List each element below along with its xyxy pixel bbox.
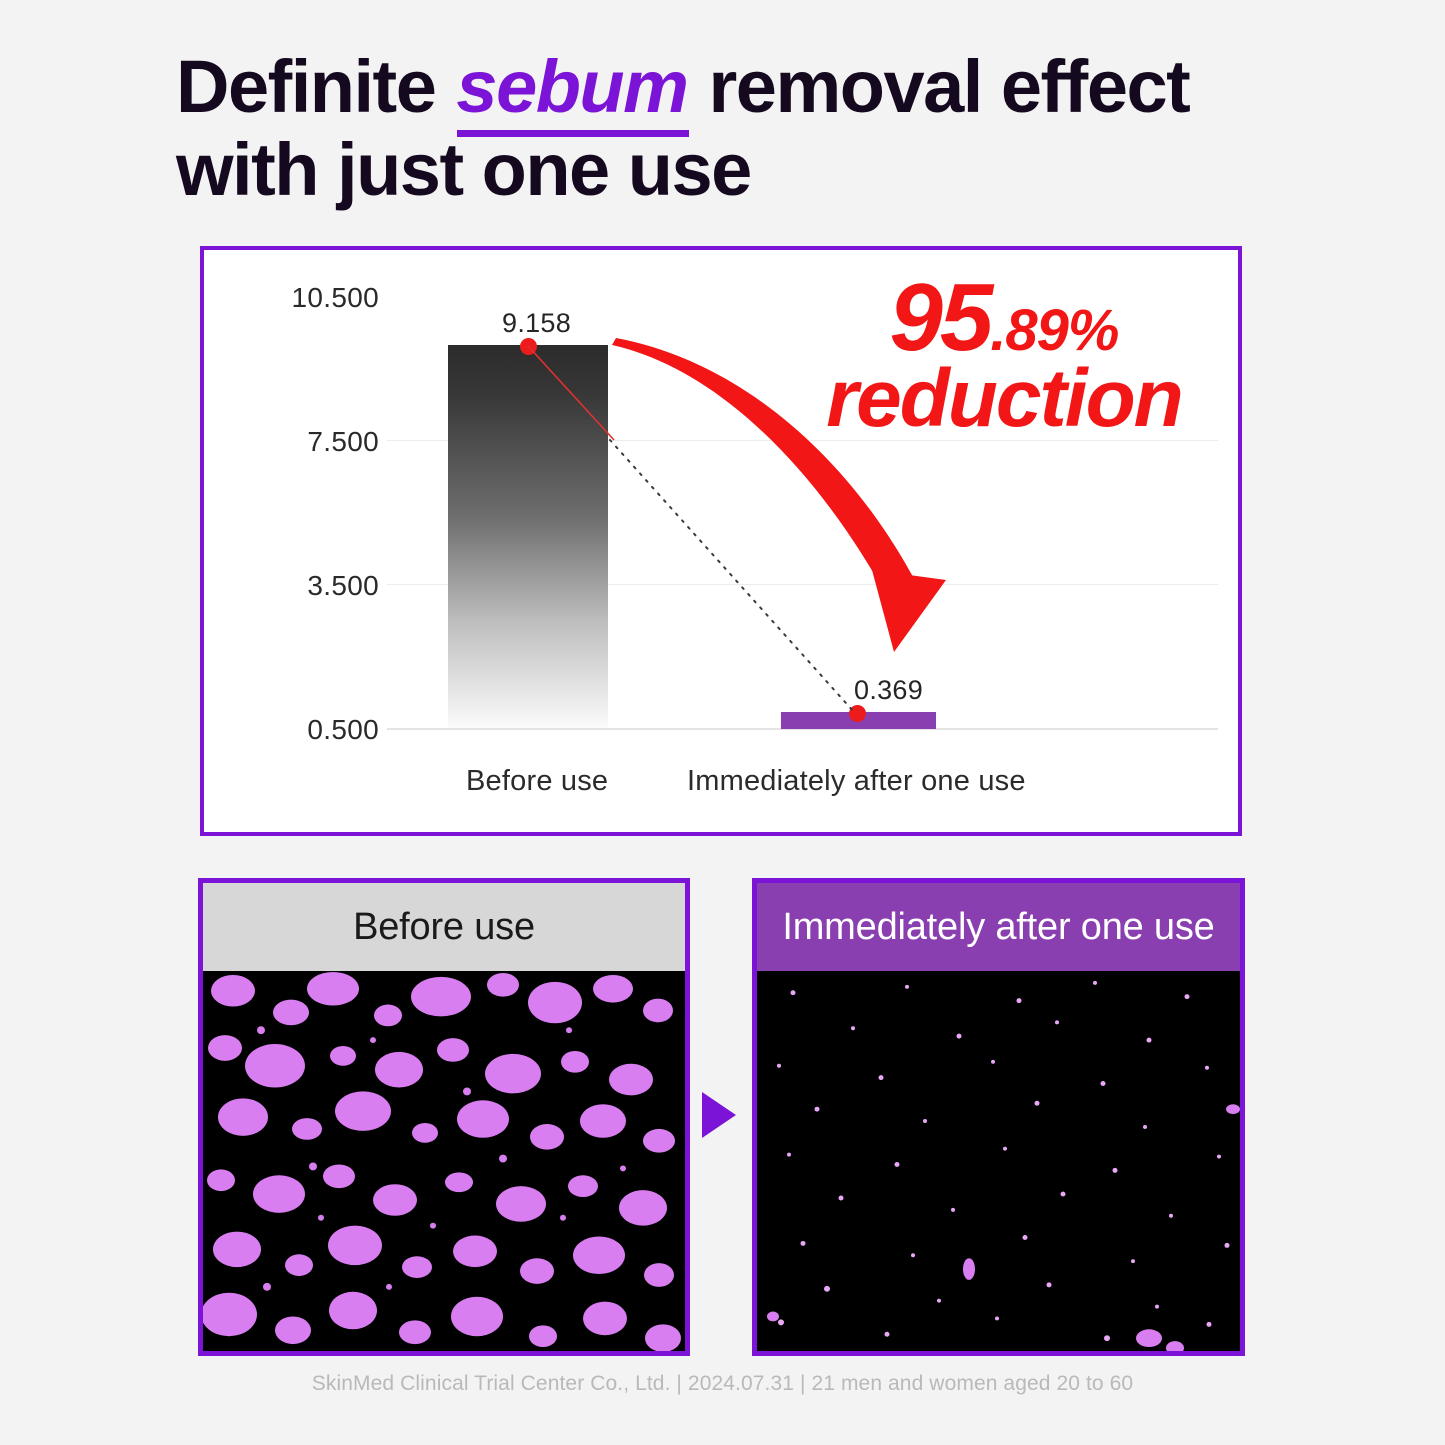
headline-text-after: removal effect (689, 45, 1189, 128)
headline-emphasis-sebum: sebum (454, 45, 689, 128)
y-tick-0: 10.500 (292, 282, 379, 314)
headline-line-2: with just one use (176, 128, 751, 211)
callout-number-major: 95 (890, 264, 991, 371)
y-tick-1: 7.500 (307, 426, 379, 458)
dotted-connector-line (610, 440, 854, 712)
headline-text-before: Definite (176, 45, 454, 128)
panel-after-image (757, 971, 1240, 1351)
red-arrow-body (612, 338, 920, 602)
reduction-callout: 95.89% reduction (784, 272, 1224, 439)
red-arrow-head (872, 570, 946, 652)
data-point-after (849, 705, 866, 722)
x-label-after: Immediately after one use (687, 765, 1026, 798)
y-tick-2: 3.500 (307, 570, 379, 602)
sebum-micrograph-after (757, 971, 1240, 1351)
bar-value-after: 0.369 (854, 675, 923, 706)
y-axis-labels: 10.500 7.500 3.500 0.500 (234, 250, 379, 832)
panel-before-title: Before use (353, 906, 535, 949)
panel-after-use: Immediately after one use (752, 878, 1245, 1356)
callout-word: reduction (784, 360, 1224, 439)
panel-after-header: Immediately after one use (757, 883, 1240, 971)
bar-before-use (448, 345, 608, 728)
callout-line-1: 95.89% (784, 272, 1224, 364)
x-label-before: Before use (466, 765, 608, 798)
panel-after-title: Immediately after one use (782, 906, 1214, 949)
page-title: Definite sebum removal effect with just … (176, 46, 1326, 212)
chart-plot-area: 10.500 7.500 3.500 0.500 9.158 0.369 (204, 250, 1238, 832)
callout-number-minor: .89% (990, 298, 1118, 363)
footer-credit: SkinMed Clinical Trial Center Co., Ltd. … (0, 1372, 1445, 1396)
data-point-before (520, 338, 537, 355)
y-tick-3: 0.500 (307, 714, 379, 746)
play-triangle-icon (702, 1092, 736, 1138)
panel-before-image (203, 971, 685, 1351)
bar-value-before: 9.158 (502, 308, 571, 339)
panel-before-use: Before use (198, 878, 690, 1356)
sebum-micrograph-before (203, 971, 685, 1351)
infographic-page: Definite sebum removal effect with just … (0, 0, 1445, 1445)
chart-card: 10.500 7.500 3.500 0.500 9.158 0.369 (200, 246, 1242, 836)
panel-before-header: Before use (203, 883, 685, 971)
